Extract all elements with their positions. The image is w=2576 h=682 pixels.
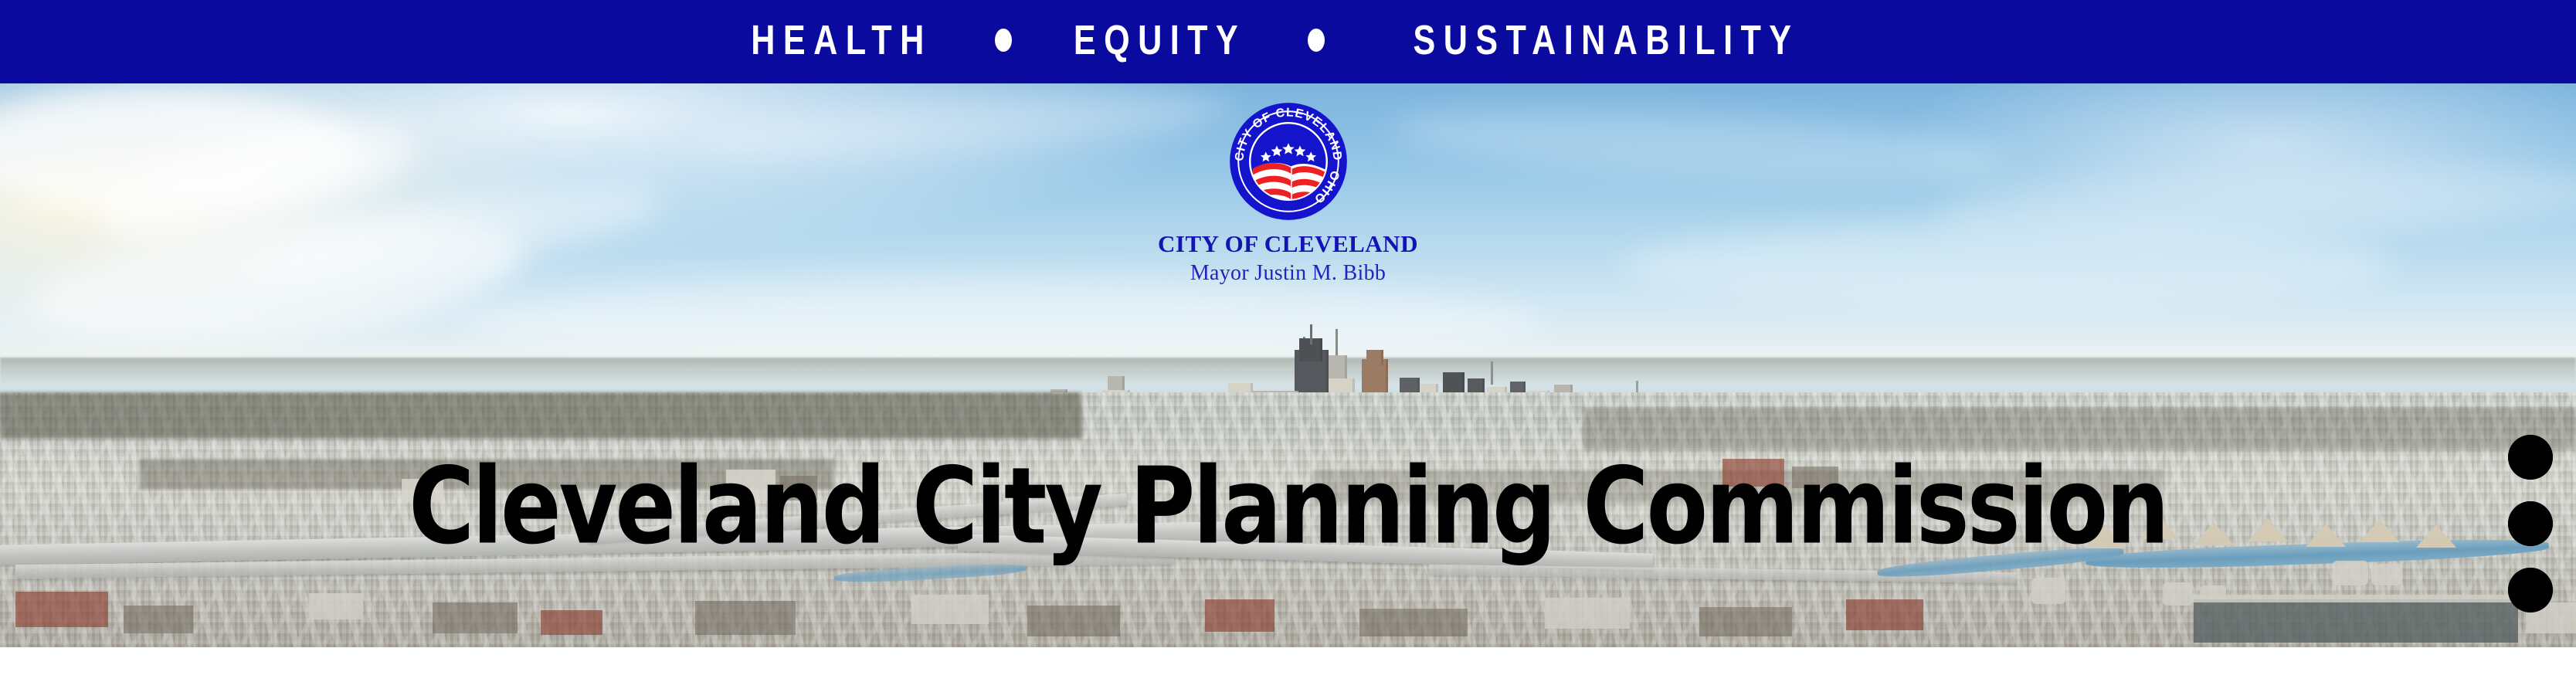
city-branding-block: CITY OF CLEVELAND OHIO [0,100,2576,284]
page-root: HEALTH EQUITY SUSTAINABILITY [0,0,2576,682]
bottom-whitespace [0,647,2576,682]
mayor-name-label: Mayor Justin M. Bibb [0,263,2576,284]
social-links [2508,435,2553,612]
hero-photo: CITY OF CLEVELAND OHIO [0,83,2576,647]
tagline-word-health: HEALTH [751,19,932,61]
city-of-cleveland-seal-icon: CITY OF CLEVELAND OHIO [1227,100,1349,222]
tagline-separator-dot-1 [995,29,1012,52]
tagline-banner-inner: HEALTH EQUITY SUSTAINABILITY [728,19,1848,61]
tagline-banner: HEALTH EQUITY SUSTAINABILITY [0,0,2576,83]
page-title: Cleveland City Planning Commission [0,454,2576,560]
tagline-word-equity: EQUITY [1074,19,1246,61]
facebook-icon[interactable] [2508,568,2553,612]
tagline-word-sustainability: SUSTAINABILITY [1414,19,1800,61]
youtube-icon[interactable] [2508,435,2553,480]
city-name-label: CITY OF CLEVELAND [0,232,2576,256]
instagram-icon[interactable] [2508,501,2553,546]
tagline-separator-dot-2 [1308,29,1325,52]
